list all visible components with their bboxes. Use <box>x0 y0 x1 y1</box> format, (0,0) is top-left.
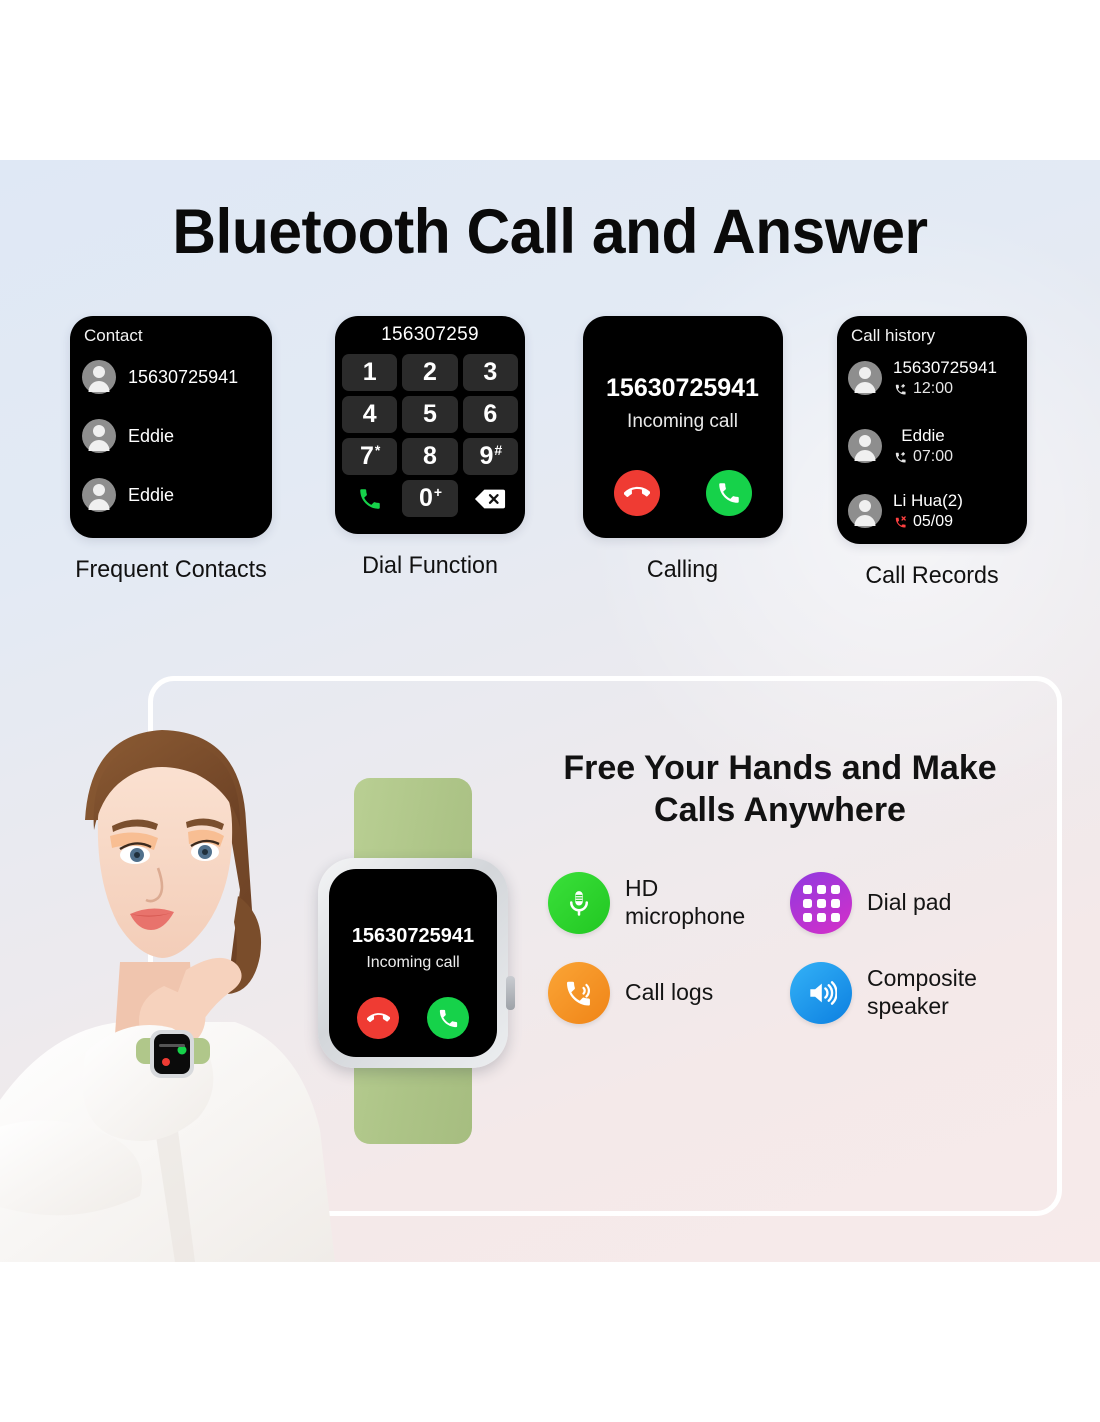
contact-name: Eddie <box>128 426 174 447</box>
feature-list: HD microphone Dial pad <box>548 872 1048 1052</box>
person-avatar-icon <box>848 429 882 463</box>
person-avatar-icon <box>82 419 116 453</box>
feature-row-1: HD microphone Dial pad <box>548 872 1048 934</box>
dial-key-8[interactable]: 8 <box>402 438 457 475</box>
record-time: 05/09 <box>893 513 963 531</box>
accept-call-icon <box>437 1007 460 1030</box>
card-calling: 15630725941 Incoming call Calling <box>580 316 785 584</box>
feature-hd-microphone[interactable]: HD microphone <box>548 872 790 934</box>
hero-decline-call-button[interactable] <box>357 997 399 1039</box>
contact-name: 15630725941 <box>128 367 238 388</box>
dialpad-keys: 1 2 3 4 5 6 7* 8 9# 0+ <box>342 354 518 517</box>
record-time: 07:00 <box>893 448 953 466</box>
dial-pad-icon <box>790 872 852 934</box>
card-caption: Dial Function <box>333 552 527 580</box>
card-caption: Frequent Contacts <box>63 556 278 584</box>
person-avatar-icon <box>848 494 882 528</box>
call-record-row[interactable]: Eddie 07:00 <box>848 426 953 466</box>
hero-call-buttons <box>329 997 497 1039</box>
history-screen-title: Call history <box>851 326 935 346</box>
watch-screen-contacts: Contact 15630725941 Eddie Eddie <box>70 316 272 538</box>
dialed-number: 156307259 <box>335 324 525 346</box>
feature-label: Composite speaker <box>867 965 977 1020</box>
contact-name: Eddie <box>128 485 174 506</box>
card-caption: Call Records <box>835 562 1029 590</box>
card-caption: Calling <box>583 556 782 584</box>
dial-call-button[interactable] <box>342 480 397 517</box>
accept-call-icon <box>716 480 742 506</box>
dial-key-5[interactable]: 5 <box>402 396 457 433</box>
calling-status: Incoming call <box>583 411 783 433</box>
decline-call-icon <box>624 480 650 506</box>
feature-dial-pad[interactable]: Dial pad <box>790 872 1032 934</box>
missed-call-icon <box>893 515 908 530</box>
record-time: 12:00 <box>893 380 997 398</box>
contact-row[interactable]: 15630725941 <box>82 360 238 394</box>
model-photo <box>0 700 350 1262</box>
dial-key-9[interactable]: 9# <box>463 438 518 475</box>
dial-key-3[interactable]: 3 <box>463 354 518 391</box>
incoming-call-icon <box>893 450 908 465</box>
person-avatar-icon <box>82 360 116 394</box>
product-feature-page: Bluetooth Call and Answer Contact 156307… <box>0 0 1100 1422</box>
dial-key-7[interactable]: 7* <box>342 438 397 475</box>
dial-key-0[interactable]: 0+ <box>402 480 457 517</box>
person-avatar-icon <box>848 361 882 395</box>
backspace-icon <box>474 488 506 510</box>
record-name: Eddie <box>893 426 953 446</box>
watch-case: 15630725941 Incoming call <box>318 858 508 1068</box>
feature-call-logs[interactable]: Call logs <box>548 962 790 1024</box>
contact-row[interactable]: Eddie <box>82 478 174 512</box>
feature-composite-speaker[interactable]: Composite speaker <box>790 962 1032 1024</box>
contact-row[interactable]: Eddie <box>82 419 174 453</box>
watch-screen-call-history: Call history 15630725941 12:00 <box>837 316 1027 544</box>
lifestyle-headline-line2: Calls Anywhere <box>520 790 1040 832</box>
call-record-row[interactable]: 15630725941 12:00 <box>848 358 997 398</box>
accept-call-button[interactable] <box>706 470 752 516</box>
watch-screen-calling: 15630725941 Incoming call <box>583 316 783 538</box>
incoming-call-icon <box>893 382 908 397</box>
decline-call-icon <box>367 1007 390 1030</box>
contacts-screen-title: Contact <box>84 326 143 346</box>
card-dial-function: 156307259 1 2 3 4 5 6 7* 8 9# <box>330 316 530 580</box>
record-name: Li Hua(2) <box>893 491 963 511</box>
dial-key-6[interactable]: 6 <box>463 396 518 433</box>
hero-watch: 15630725941 Incoming call <box>318 778 508 1144</box>
microphone-icon <box>548 872 610 934</box>
lifestyle-headline-line1: Free Your Hands and Make <box>520 748 1040 790</box>
hero-accept-call-button[interactable] <box>427 997 469 1039</box>
call-logs-icon <box>548 962 610 1024</box>
record-name: 15630725941 <box>893 358 997 378</box>
hero-calling-number: 15630725941 <box>329 925 497 948</box>
watch-crown-button[interactable] <box>506 976 515 1010</box>
hero-watch-screen: 15630725941 Incoming call <box>329 869 497 1057</box>
phone-handset-icon <box>357 486 383 512</box>
calling-number: 15630725941 <box>583 374 783 403</box>
call-record-row[interactable]: Li Hua(2) 05/09 <box>848 491 963 531</box>
feature-label: Dial pad <box>867 889 951 917</box>
feature-row-2: Call logs Composite speaker <box>548 962 1048 1024</box>
card-frequent-contacts: Contact 15630725941 Eddie Eddie Frequent… <box>60 316 282 584</box>
decline-call-button[interactable] <box>614 470 660 516</box>
feature-label: HD microphone <box>625 875 745 930</box>
dial-key-2[interactable]: 2 <box>402 354 457 391</box>
feature-label: Call logs <box>625 979 713 1007</box>
dial-key-4[interactable]: 4 <box>342 396 397 433</box>
dial-key-1[interactable]: 1 <box>342 354 397 391</box>
lifestyle-headline: Free Your Hands and Make Calls Anywhere <box>520 748 1040 832</box>
speaker-icon <box>790 962 852 1024</box>
feature-screens-row: Contact 15630725941 Eddie Eddie Frequent… <box>0 316 1100 596</box>
watch-screen-dialpad: 156307259 1 2 3 4 5 6 7* 8 9# <box>335 316 525 534</box>
call-action-buttons <box>583 470 783 516</box>
hero-calling-status: Incoming call <box>329 954 497 972</box>
page-title: Bluetooth Call and Answer <box>22 196 1078 268</box>
person-avatar-icon <box>82 478 116 512</box>
card-call-records: Call history 15630725941 12:00 <box>832 316 1032 590</box>
dial-backspace-button[interactable] <box>463 480 518 517</box>
